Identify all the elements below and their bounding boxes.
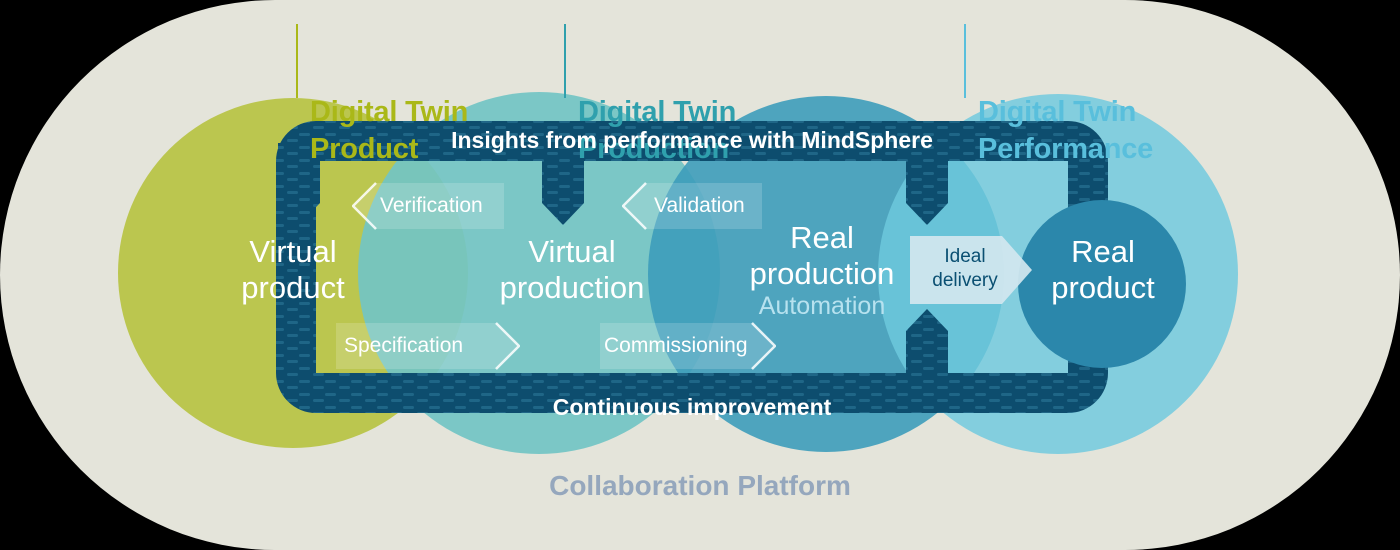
header-rule-performance xyxy=(964,24,966,98)
arrow-validation: Validation xyxy=(622,182,770,230)
node-label-virtual-production: Virtual production xyxy=(452,234,692,306)
diagram-canvas: Digital Twin Product Digital Twin Produc… xyxy=(0,0,1400,550)
arrow-commissioning: Commissioning xyxy=(596,322,776,370)
header-rule-product xyxy=(296,24,298,98)
node-label-real-product: Real product xyxy=(1028,234,1178,306)
band-label-continuous-improvement: Continuous improvement xyxy=(272,394,1112,421)
collaboration-platform-backdrop: Digital Twin Product Digital Twin Produc… xyxy=(0,0,1400,550)
node-label-virtual-product: Virtual product xyxy=(188,234,398,306)
band-label-insights: Insights from performance with MindSpher… xyxy=(272,127,1112,154)
node-label-real-production: Real production xyxy=(718,220,926,292)
footer-collaboration-platform: Collaboration Platform xyxy=(0,470,1400,502)
arrow-label: Commissioning xyxy=(604,334,748,358)
arrow-label: Validation xyxy=(654,194,745,218)
arrow-specification: Specification xyxy=(332,322,520,370)
arrow-verification: Verification xyxy=(352,182,512,230)
node-sublabel-automation: Automation xyxy=(718,292,926,321)
arrow-label: Verification xyxy=(380,194,483,218)
arrow-label: Specification xyxy=(344,334,463,358)
header-rule-production xyxy=(564,24,566,98)
ideal-delivery-label: Ideal delivery xyxy=(922,245,1008,292)
ideal-delivery-callout: Ideal delivery xyxy=(910,236,1032,304)
